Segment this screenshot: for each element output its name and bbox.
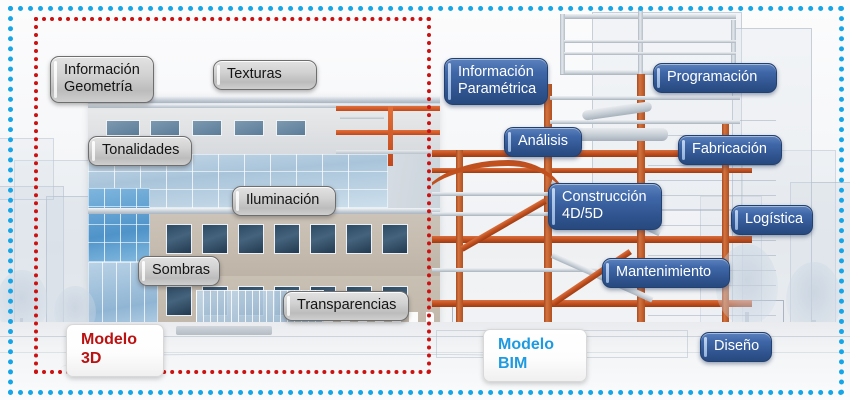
label-transparencias[interactable]: Transparencias: [283, 291, 409, 321]
label-analisis[interactable]: Análisis: [504, 127, 582, 157]
label-fabricacion[interactable]: Fabricación: [678, 135, 782, 165]
label-sombras[interactable]: Sombras: [138, 256, 220, 286]
plaza-curb: [176, 326, 272, 335]
label-construccion-4d-5d[interactable]: Construcción 4D/5D: [548, 183, 662, 230]
bim-comparison-diagram: Información Geometría Texturas Tonalidad…: [0, 0, 850, 400]
label-logistica[interactable]: Logística: [731, 205, 813, 235]
title-modelo-bim: Modelo BIM: [483, 329, 587, 382]
label-informacion-parametrica[interactable]: Información Paramétrica: [444, 58, 548, 105]
label-iluminacion[interactable]: Iluminación: [232, 186, 336, 216]
label-informacion-geometria[interactable]: Información Geometría: [50, 56, 154, 103]
label-texturas[interactable]: Texturas: [213, 60, 317, 90]
label-programacion[interactable]: Programación: [653, 63, 777, 93]
label-diseno[interactable]: Diseño: [700, 332, 772, 362]
label-tonalidades[interactable]: Tonalidades: [88, 136, 192, 166]
ghost-building: [0, 138, 54, 200]
title-modelo-3d: Modelo 3D: [66, 324, 164, 377]
label-mantenimiento[interactable]: Mantenimiento: [602, 258, 730, 288]
